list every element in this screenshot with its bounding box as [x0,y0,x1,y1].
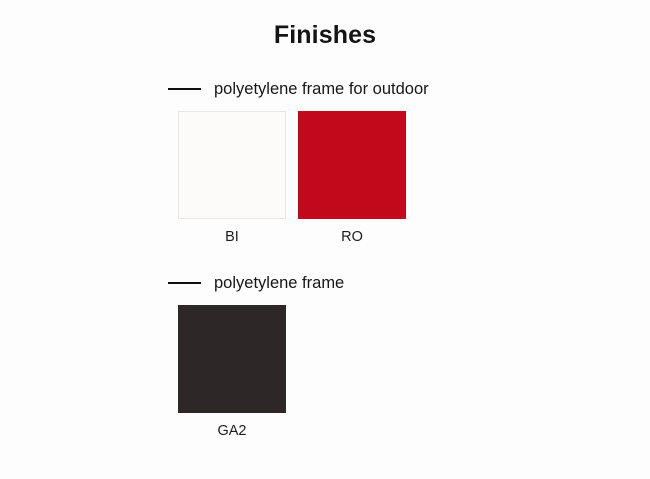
swatch-row-outdoor: BI RO [178,111,406,246]
horizontal-dash-icon [168,88,201,90]
legend-row-indoor: polyetylene frame [168,272,344,294]
legend-row-outdoor: polyetylene frame for outdoor [168,78,429,100]
page-title: Finishes [0,20,650,50]
swatch-cell-bi[interactable]: BI [178,111,286,246]
finishes-sheet: Finishes polyetylene frame for outdoor B… [0,0,650,479]
swatch-cell-ga2[interactable]: GA2 [178,305,286,440]
swatch-caption-ro: RO [341,228,363,246]
color-swatch-ga2[interactable] [178,305,286,413]
swatch-caption-ga2: GA2 [217,422,246,440]
color-swatch-bi[interactable] [178,111,286,219]
swatch-row-indoor: GA2 [178,305,286,440]
color-swatch-ro[interactable] [298,111,406,219]
swatch-caption-bi: BI [225,228,239,246]
legend-label-indoor: polyetylene frame [214,273,344,293]
legend-label-outdoor: polyetylene frame for outdoor [214,79,429,99]
swatch-cell-ro[interactable]: RO [298,111,406,246]
horizontal-dash-icon [168,282,201,284]
